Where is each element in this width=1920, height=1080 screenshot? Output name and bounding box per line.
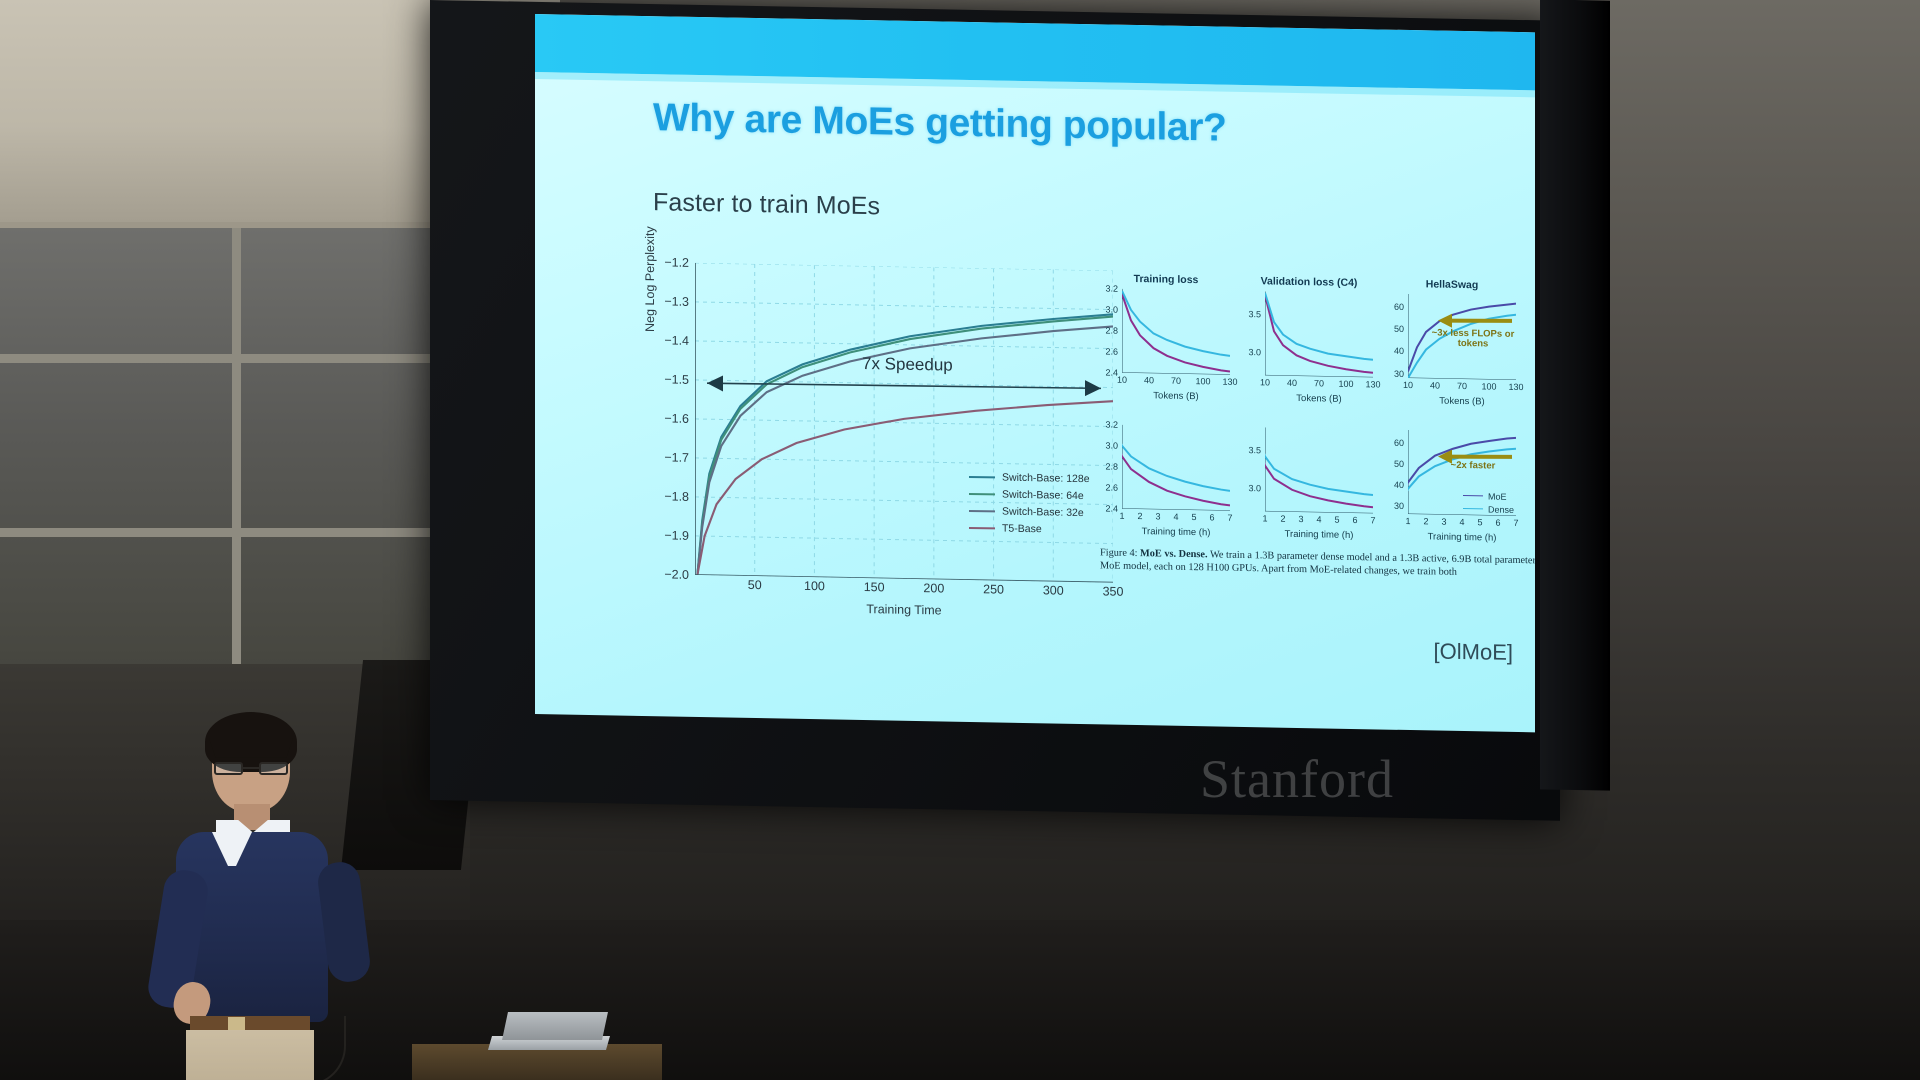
figure-panel-x-tick: 5: [1191, 512, 1196, 522]
chart-legend-swatch: [969, 475, 995, 477]
figure-panel-y-tick: 50: [1394, 458, 1404, 468]
chart-legend-label: Switch-Base: 64e: [1002, 488, 1084, 501]
figure-legend-label: Dense: [1488, 504, 1514, 514]
figure-panel-x-tick: 6: [1209, 512, 1214, 522]
chart-legend-label: T5-Base: [1002, 522, 1042, 535]
figure-panel-y-tick: 2.8: [1105, 461, 1118, 471]
figure-panel-x-tick: 1: [1262, 513, 1267, 523]
figure-panel-y-tick: 30: [1394, 368, 1404, 378]
figure-panel-x-tick: 6: [1495, 518, 1500, 528]
chart-y-tick-label: −1.2: [664, 255, 689, 269]
figure-panel-x-tick: 100: [1338, 379, 1353, 389]
figure-panel-x-label: Training time (h): [1408, 531, 1516, 544]
chart-y-tick-label: −1.8: [664, 489, 689, 503]
chart-legend-label: Switch-Base: 128e: [1002, 471, 1090, 485]
figure-panel-x-label: Tokens (B): [1408, 395, 1516, 408]
figure-panel-x-tick: 6: [1352, 515, 1357, 525]
figure-panel-x-tick: 10: [1260, 377, 1270, 387]
chart-y-tick-label: −1.4: [664, 333, 689, 347]
figure-panel-y-tick: 3.5: [1248, 309, 1261, 319]
figure-legend-swatch: [1463, 508, 1483, 510]
figure-legend-item[interactable]: MoE: [1463, 489, 1514, 503]
figure-panel-x-tick: 4: [1316, 514, 1321, 524]
figure-panel-x-tick: 7: [1227, 513, 1232, 523]
figure-panel-x-tick: 2: [1137, 511, 1142, 521]
figure-panel-x-ticks: 1234567: [1408, 516, 1516, 530]
figure-panel-x-tick: 10: [1117, 375, 1127, 385]
figure-panel-x-tick: 4: [1173, 512, 1178, 522]
chart-legend-item[interactable]: T5-Base: [969, 519, 1119, 539]
chart-x-tick-label: 300: [1043, 583, 1064, 597]
figure-panel-x-tick: 3: [1441, 517, 1446, 527]
figure-caption-number: Figure 4:: [1100, 547, 1137, 559]
figure-panel-plot: [1265, 427, 1373, 513]
chart-x-tick-label: 150: [864, 580, 885, 594]
figure-panel-y-ticks: 60504030: [1386, 430, 1406, 514]
stanford-watermark: Stanford: [1200, 748, 1394, 810]
speedup-arrow-head-left: [707, 375, 723, 391]
slide-citation[interactable]: [OlMoE]: [1434, 638, 1513, 665]
figure-panel-x-tick: 40: [1430, 380, 1440, 390]
chart-legend-swatch: [969, 526, 995, 528]
chart-x-tick-label: 200: [923, 581, 944, 595]
figure-caption-title: MoE vs. Dense.: [1140, 548, 1208, 560]
figure-panel-x-tick: 5: [1334, 515, 1339, 525]
figure-panel-y-ticks: 3.53.0: [1243, 291, 1263, 375]
figure-panel-y-tick: 40: [1394, 346, 1404, 356]
figure-panel-x-tick: 40: [1287, 378, 1297, 388]
figure-panel-x-tick: 130: [1365, 379, 1380, 389]
figure-panel-title: Training loss: [1100, 272, 1232, 286]
figure-panel-x-tick: 40: [1144, 375, 1154, 385]
figure-panel: 605040301234567Training time (h)~2x fast…: [1386, 416, 1518, 542]
figure-panel-x-tick: 1: [1405, 516, 1410, 526]
figure-panel-x-tick: 70: [1314, 378, 1324, 388]
figure-panel-title: HellaSwag: [1386, 278, 1518, 292]
figure-panel-x-tick: 4: [1459, 517, 1464, 527]
figure-panel-y-tick: 3.5: [1248, 445, 1261, 455]
figure-panel-annotation: ~2x faster: [1430, 460, 1516, 472]
figure-panel-x-tick: 130: [1222, 377, 1237, 387]
figure-panel-y-tick: 40: [1394, 479, 1404, 489]
figure-panel-x-tick: 7: [1513, 518, 1518, 528]
figure-legend-swatch: [1463, 495, 1483, 497]
chart-x-tick-label: 50: [748, 578, 762, 592]
presentation-slide: Why are MoEs getting popular? Faster to …: [535, 14, 1535, 732]
chart-legend-label: Switch-Base: 32e: [1002, 505, 1084, 518]
figure-panel-y-tick: 3.2: [1105, 419, 1118, 429]
chart-legend[interactable]: Switch-Base: 128eSwitch-Base: 64eSwitch-…: [969, 468, 1119, 539]
figure-panel-plot: [1122, 425, 1230, 511]
chart-y-ticks: −1.2−1.3−1.4−1.5−1.6−1.7−1.8−1.9−2.0: [647, 262, 693, 575]
chart-y-tick-label: −1.6: [664, 411, 689, 425]
presenter-belt-buckle: [228, 1017, 245, 1031]
chart-y-tick-label: −1.5: [664, 372, 689, 386]
figure-panel-plot: [1265, 291, 1373, 377]
figure-panel: 3.53.01234567Training time (h): [1243, 413, 1375, 539]
figure-panel: 3.23.02.82.62.41234567Training time (h): [1100, 410, 1232, 536]
figure-panel-x-tick: 2: [1280, 514, 1285, 524]
speedup-annotation: 7x Speedup: [862, 354, 953, 376]
figure-panel-x-tick: 10: [1403, 380, 1413, 390]
figure-panel-annotation: ~3x less FLOPs or tokens: [1430, 328, 1516, 350]
figure-panel-x-label: Training time (h): [1122, 526, 1230, 539]
figure-panel-y-ticks: 3.23.02.82.62.4: [1100, 424, 1120, 508]
figure-panel-x-tick: 100: [1195, 376, 1210, 386]
chart-y-tick-label: −1.9: [664, 528, 689, 542]
figure-panel-x-tick: 2: [1423, 516, 1428, 526]
figure-panel-x-ticks: 1234567: [1122, 511, 1230, 525]
figure-panel-title: Validation loss (C4): [1243, 275, 1375, 289]
presenter-trousers: [186, 1030, 314, 1080]
chart-x-axis-label: Training Time: [695, 599, 1113, 621]
figure-panel-x-ticks: 1234567: [1265, 513, 1373, 527]
chart-y-tick-label: −1.7: [664, 450, 689, 464]
figure-panel: Training loss3.23.02.82.62.4104070100130…: [1100, 274, 1232, 400]
figure-panel-x-label: Tokens (B): [1265, 392, 1373, 405]
figure-panel-x-tick: 130: [1508, 382, 1523, 392]
figure-panel-x-tick: 3: [1298, 514, 1303, 524]
chart-x-tick-label: 100: [804, 579, 825, 593]
figure-legend-label: MoE: [1488, 491, 1507, 501]
figure-panel-x-ticks: 104070100130: [1122, 375, 1230, 389]
figure-panel-x-tick: 3: [1155, 511, 1160, 521]
figure-panel-x-label: Tokens (B): [1122, 390, 1230, 403]
figure-panel-x-ticks: 104070100130: [1265, 377, 1373, 391]
chart-legend-swatch: [969, 492, 995, 494]
figure-panel-x-tick: 70: [1171, 376, 1181, 386]
figure-panel-y-tick: 30: [1394, 500, 1404, 510]
figure-panel-y-tick: 2.4: [1105, 503, 1118, 513]
chart-switch-transformer: Neg Log Perplexity −1.2−1.3−1.4−1.5−1.6−…: [647, 254, 1117, 623]
chart-legend-swatch: [969, 509, 995, 511]
figure-panel-y-tick: 60: [1394, 302, 1404, 312]
figure-panel-y-tick: 3.0: [1105, 440, 1118, 450]
figure-panel-y-ticks: 3.53.0: [1243, 427, 1263, 511]
figure-panel: HellaSwag60504030104070100130Tokens (B)~…: [1386, 280, 1518, 406]
screen-right-edge: [1540, 0, 1610, 791]
slide-title: Why are MoEs getting popular?: [653, 96, 1226, 151]
figure-panel-x-tick: 7: [1370, 515, 1375, 525]
chart-y-tick-label: −1.3: [664, 294, 689, 308]
figure-panel-y-tick: 3.2: [1105, 283, 1118, 293]
figure-panel-x-tick: 70: [1457, 381, 1467, 391]
figure-panel-x-tick: 1: [1119, 511, 1124, 521]
chart-y-tick-label: −2.0: [664, 567, 689, 581]
laptop-lid: [502, 1012, 608, 1040]
figure-caption: Figure 4: MoE vs. Dense. We train a 1.3B…: [1100, 546, 1535, 580]
figure-panel-y-tick: 3.0: [1248, 483, 1261, 493]
figure-panel-legend[interactable]: MoEDense: [1463, 489, 1514, 516]
figure-panel-y-tick: 60: [1394, 437, 1404, 447]
presenter: [150, 720, 365, 1080]
figure-legend-item[interactable]: Dense: [1463, 502, 1514, 516]
presenter-glasses: [214, 762, 288, 775]
figure-panel-x-tick: 5: [1477, 517, 1482, 527]
figure-panel-y-tick: 2.6: [1105, 482, 1118, 492]
figure-panel-x-ticks: 104070100130: [1408, 380, 1516, 394]
speedup-arrow-head-right: [1085, 380, 1101, 396]
figure-panel-y-ticks: 60504030: [1386, 294, 1406, 378]
chart-x-tick-label: 250: [983, 582, 1004, 596]
figure-panel-y-tick: 2.6: [1105, 346, 1118, 356]
figure-panel-y-tick: 3.0: [1248, 347, 1261, 357]
figure-panel-x-tick: 100: [1481, 381, 1496, 391]
figure-panel-x-label: Training time (h): [1265, 528, 1373, 541]
microphone-cable: [300, 1016, 346, 1080]
figure-panel-plot: [1122, 289, 1230, 375]
screenshot-stage: Why are MoEs getting popular? Faster to …: [0, 0, 1920, 1080]
figure-panel-y-ticks: 3.23.02.82.62.4: [1100, 288, 1120, 372]
figure-panel-y-tick: 2.8: [1105, 325, 1118, 335]
chart-series-line: [697, 307, 1113, 583]
figure-panel-y-tick: 50: [1394, 324, 1404, 334]
slide-subtitle: Faster to train MoEs: [653, 188, 880, 221]
figure-moe-vs-dense: Training loss3.23.02.82.62.4104070100130…: [1100, 274, 1518, 612]
figure-panel-grid: Training loss3.23.02.82.62.4104070100130…: [1100, 274, 1518, 550]
figure-panel-y-tick: 3.0: [1105, 304, 1118, 314]
figure-panel: Validation loss (C4)3.53.0104070100130To…: [1243, 277, 1375, 403]
